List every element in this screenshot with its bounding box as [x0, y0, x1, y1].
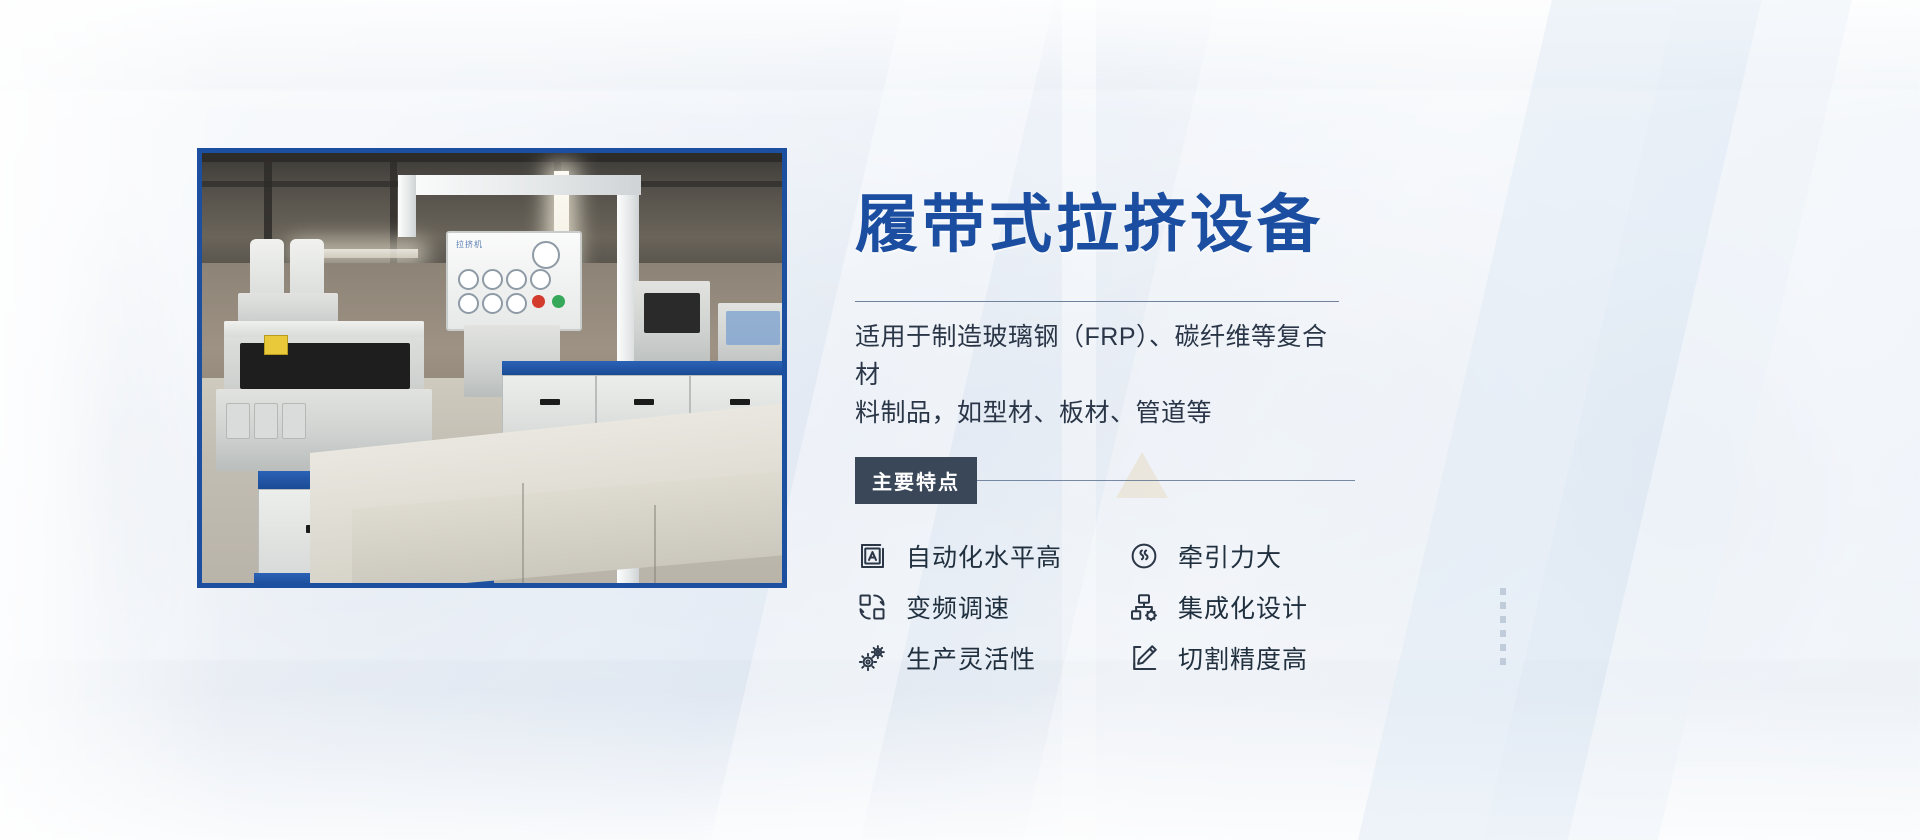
features-list: 自动化水平高 牵引力大 [855, 530, 1355, 683]
gears-flexibility-icon [855, 641, 889, 675]
photo-panel-button-green [552, 295, 565, 308]
photo-roof-beam [202, 153, 782, 162]
feature-item-traction[interactable]: 牵引力大 [1127, 538, 1282, 574]
feature-label: 生产灵活性 [906, 640, 1036, 676]
photo-panel-gauge [482, 293, 503, 314]
product-banner: 拉挤机 [0, 0, 1920, 840]
cutting-precision-pen-icon [1127, 641, 1161, 675]
traction-circle-waves-icon [1127, 539, 1161, 573]
photo-panel-button-red [532, 295, 545, 308]
photo-panel-brand: 拉挤机 [456, 239, 483, 250]
feature-label: 自动化水平高 [906, 538, 1062, 574]
features-badge: 主要特点 [855, 457, 977, 504]
frequency-swap-icon [855, 590, 889, 624]
photo-silo [250, 239, 284, 297]
photo-gantry-post-left [398, 175, 416, 237]
feature-label: 切割精度高 [1178, 640, 1308, 676]
feature-item-integration[interactable]: 集成化设计 [1127, 589, 1308, 625]
photo-machine-far-window [726, 311, 780, 345]
photo-conveyor-seam [654, 505, 656, 583]
photo-conveyor-seam [522, 483, 524, 583]
banner-content: 履带式拉挤设备 适用于制造玻璃钢（FRP）、碳纤维等复合材料制品，如型材、板材、… [855, 150, 1355, 683]
page-title: 履带式拉挤设备 [855, 192, 1355, 259]
feature-label: 集成化设计 [1178, 589, 1308, 625]
feature-label: 变频调速 [906, 589, 1010, 625]
photo-cabinet-slot [730, 399, 750, 405]
photo-machine-door [226, 403, 250, 439]
photo-silo [290, 239, 324, 297]
feature-item-cutting[interactable]: 切割精度高 [1127, 640, 1308, 676]
photo-panel-gauge [506, 293, 527, 314]
photo-panel-gauge [506, 269, 527, 290]
photo-panel-gauge [530, 269, 551, 290]
description-line-2: 料制品，如型材、板材、管道等 [855, 394, 1347, 432]
photo-machine-right-window [644, 293, 700, 333]
feature-row: 自动化水平高 牵引力大 [855, 530, 1355, 581]
photo-cabinet-slot [540, 399, 560, 405]
photo-control-panel: 拉挤机 [446, 231, 582, 331]
title-divider [855, 301, 1339, 302]
feature-label: 牵引力大 [1178, 538, 1282, 574]
photo-machine-top [224, 321, 424, 337]
features-divider [977, 480, 1355, 481]
product-photo-card[interactable]: 拉挤机 [197, 148, 787, 588]
photo-panel-gauge [482, 269, 503, 290]
automation-square-a-icon [855, 539, 889, 573]
photo-panel-gauge [458, 269, 479, 290]
photo-panel-gauge [532, 241, 560, 269]
feature-item-flexibility[interactable]: 生产灵活性 [855, 640, 1127, 676]
photo-machine-door [282, 403, 306, 439]
photo-panel-gauge [458, 293, 479, 314]
feature-item-automation[interactable]: 自动化水平高 [855, 538, 1127, 574]
product-photo: 拉挤机 [202, 153, 782, 583]
photo-cabinet-rail [502, 361, 782, 375]
features-header: 主要特点 [855, 457, 1355, 504]
photo-warning-label [264, 335, 288, 355]
photo-machine-door [254, 403, 278, 439]
photo-cabinet-slot [634, 399, 654, 405]
description-line-1: 适用于制造玻璃钢（FRP）、碳纤维等复合材 [855, 318, 1347, 394]
integration-sitemap-icon [1127, 590, 1161, 624]
feature-row: 变频调速 集成化设计 [855, 581, 1355, 632]
feature-row: 生产灵活性 切割精度高 [855, 632, 1355, 683]
product-description: 适用于制造玻璃钢（FRP）、碳纤维等复合材料制品，如型材、板材、管道等 [855, 318, 1347, 432]
feature-item-frequency[interactable]: 变频调速 [855, 589, 1127, 625]
photo-gantry-beam [398, 175, 641, 195]
photo-roof-post [390, 153, 397, 263]
